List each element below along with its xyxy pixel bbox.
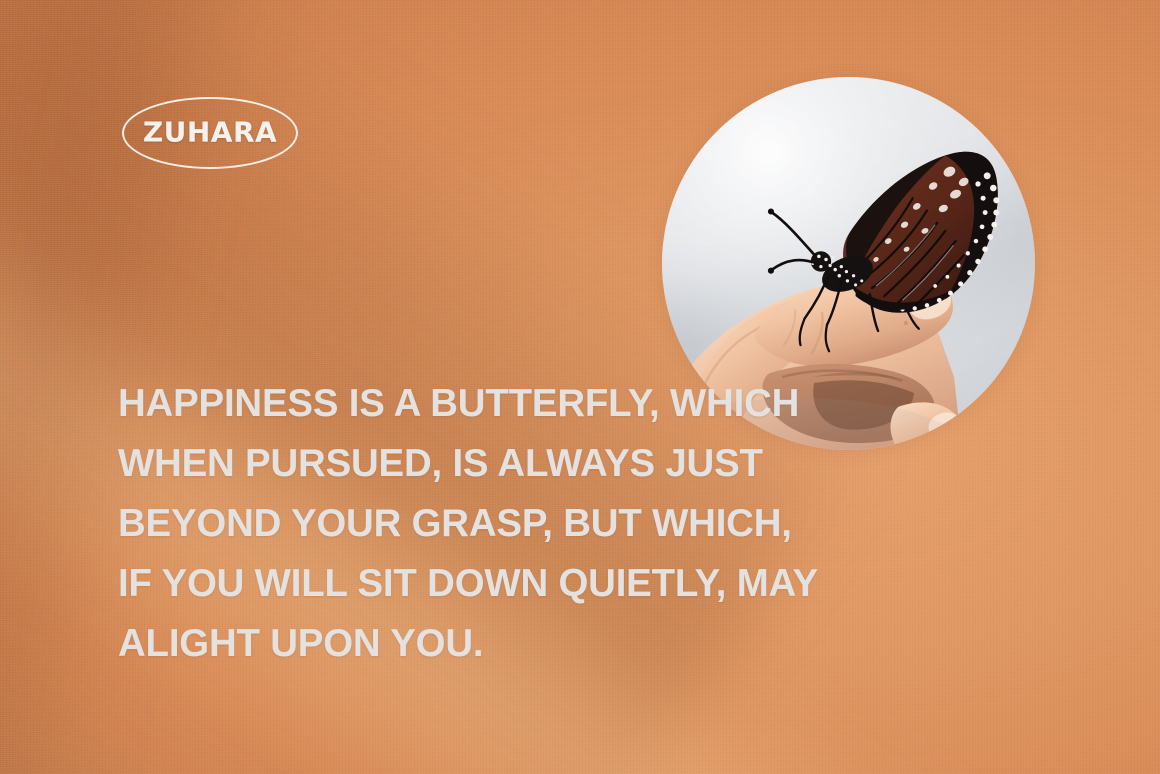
quote-text: HAPPINESS IS A BUTTERFLY, WHICH WHEN PUR… (118, 382, 898, 665)
logo-wordmark: ZUHARA (122, 118, 298, 146)
quote-line: WHEN PURSUED, IS ALWAYS JUST (118, 442, 886, 485)
quote-line: BEYOND YOUR GRASP, BUT WHICH, (118, 502, 886, 545)
logo-zuhara[interactable]: ZUHARA (122, 97, 298, 169)
quote-line: HAPPINESS IS A BUTTERFLY, WHICH (118, 382, 886, 425)
quote-line: IF YOU WILL SIT DOWN QUIETLY, MAY (118, 562, 886, 605)
quote-line: ALIGHT UPON YOU. (118, 622, 886, 665)
poster-canvas: ZUHARA (0, 0, 1160, 774)
